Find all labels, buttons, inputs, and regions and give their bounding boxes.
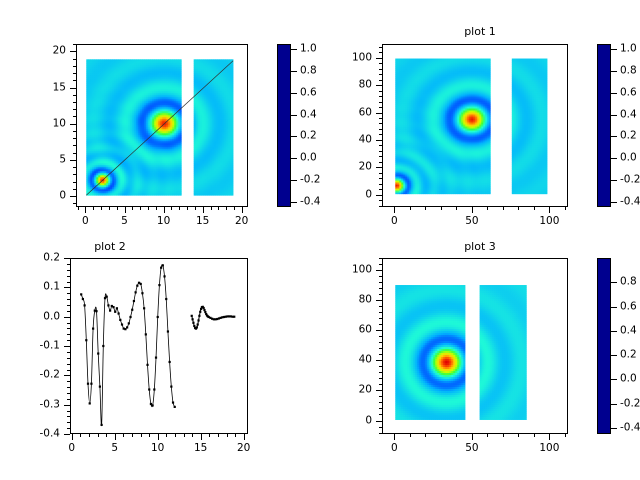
data-marker	[82, 298, 84, 300]
data-marker	[126, 326, 128, 328]
colorbar-bottom-right[interactable]	[597, 258, 611, 434]
major-tick-x	[85, 207, 86, 213]
major-tick-y	[64, 405, 70, 406]
subplot-top-right-title: plot 1	[320, 26, 640, 38]
major-tick-x	[72, 434, 73, 440]
major-tick-y	[376, 195, 382, 196]
minor-tick-x	[89, 434, 90, 437]
colorbar-tick-label: 0.4	[300, 109, 317, 120]
major-tick-y	[64, 346, 70, 347]
colorbar-tick	[291, 115, 297, 116]
lineplot-bottom-left	[71, 259, 247, 433]
colorbar-tick	[611, 71, 617, 72]
major-tick-y	[70, 196, 76, 197]
axes-bottom-left[interactable]	[70, 258, 248, 434]
data-marker	[197, 323, 199, 325]
minor-tick-x	[234, 207, 235, 210]
subplot-top-right: plot 1 050100020406080100 -0.4-0.20.00.2…	[320, 0, 640, 240]
data-marker	[87, 383, 89, 385]
minor-tick-y	[67, 293, 70, 294]
minor-tick-y	[379, 276, 382, 277]
minor-tick-x	[187, 207, 188, 210]
y-tick-label: 0	[336, 415, 372, 426]
minor-tick-x	[141, 434, 142, 437]
colorbar-tick	[291, 49, 297, 50]
minor-tick-y	[379, 96, 382, 97]
major-tick-y	[70, 160, 76, 161]
minor-tick-y	[379, 414, 382, 415]
colorbar-tick	[291, 93, 297, 94]
colorbar-tick	[291, 158, 297, 159]
minor-tick-x	[98, 434, 99, 437]
minor-tick-x	[503, 434, 504, 437]
data-marker	[107, 304, 109, 306]
y-tick-label: 10	[30, 118, 66, 129]
major-tick-x	[549, 434, 550, 440]
minor-tick-y	[379, 324, 382, 325]
y-tick-label: 0.2	[24, 253, 60, 264]
axes-top-left[interactable]	[76, 44, 248, 207]
data-marker	[157, 316, 159, 318]
data-marker	[158, 284, 160, 286]
minor-tick-y	[379, 378, 382, 379]
data-marker	[203, 307, 205, 309]
colorbar-tick-label: 0.8	[300, 66, 317, 77]
y-tick-label: 5	[30, 154, 66, 165]
axes-top-right[interactable]	[382, 44, 568, 207]
data-marker	[193, 325, 195, 327]
minor-tick-y	[67, 270, 70, 271]
minor-tick-y	[379, 294, 382, 295]
minor-tick-y	[379, 366, 382, 367]
minor-tick-x	[171, 207, 172, 210]
minor-tick-y	[67, 334, 70, 335]
x-tick-label: 50	[465, 216, 478, 227]
minor-tick-x	[518, 434, 519, 437]
minor-tick-y	[67, 370, 70, 371]
colorbar-tick-label: -0.4	[300, 196, 321, 207]
colorbar-tick-label: -0.2	[620, 174, 640, 185]
colorbar-tick	[611, 428, 617, 429]
major-tick-y	[64, 287, 70, 288]
minor-tick-y	[379, 288, 382, 289]
figure-canvas: 0510152005101520 -0.4-0.20.00.20.40.60.8…	[0, 0, 640, 480]
minor-tick-y	[73, 203, 76, 204]
data-marker	[85, 339, 87, 341]
minor-tick-y	[379, 134, 382, 135]
colorbar-tick-label: 1.0	[300, 44, 317, 55]
data-marker	[121, 323, 123, 325]
colorbar-tick-label: 0.8	[620, 66, 637, 77]
minor-tick-x	[78, 207, 79, 210]
minor-tick-y	[379, 129, 382, 130]
minor-tick-x	[140, 207, 141, 210]
minor-tick-x	[441, 207, 442, 210]
minor-tick-x	[123, 434, 124, 437]
data-marker	[203, 309, 205, 311]
minor-tick-y	[379, 396, 382, 397]
minor-tick-y	[379, 264, 382, 265]
minor-tick-y	[379, 74, 382, 75]
minor-tick-y	[67, 340, 70, 341]
x-tick-label: 100	[539, 443, 559, 454]
heatmap-bottom-right	[383, 259, 567, 433]
minor-tick-x	[410, 207, 411, 210]
minor-tick-y	[73, 138, 76, 139]
data-marker	[233, 316, 235, 318]
axes-bottom-right[interactable]	[382, 258, 568, 434]
minor-tick-y	[379, 123, 382, 124]
colorbar-tick-label: 0.0	[300, 153, 317, 164]
minor-tick-y	[67, 411, 70, 412]
minor-tick-x	[132, 207, 133, 210]
major-tick-x	[472, 207, 473, 213]
colorbar-tick	[611, 158, 617, 159]
major-tick-x	[242, 207, 243, 213]
minor-tick-y	[67, 282, 70, 283]
minor-tick-y	[379, 189, 382, 190]
y-tick-label: 80	[336, 80, 372, 91]
data-marker	[163, 275, 165, 277]
minor-tick-y	[379, 372, 382, 373]
y-tick-label: 40	[336, 355, 372, 366]
data-marker	[119, 319, 121, 321]
minor-tick-x	[106, 434, 107, 437]
x-tick-label: 5	[111, 443, 118, 454]
colorbar-tick-label: -0.2	[620, 398, 640, 409]
colorbar-tick-label: 0.6	[620, 87, 637, 98]
major-tick-y	[376, 360, 382, 361]
minor-tick-y	[379, 336, 382, 337]
minor-tick-y	[379, 200, 382, 201]
data-marker	[133, 300, 135, 302]
colorbar-tick-label: 0.2	[300, 131, 317, 142]
heatmap-top-right	[383, 45, 567, 206]
data-marker	[141, 292, 143, 294]
major-tick-x	[244, 434, 245, 440]
data-marker	[109, 310, 111, 312]
colorbar-tick	[611, 404, 617, 405]
data-marker	[84, 304, 86, 306]
data-marker	[145, 333, 147, 335]
minor-tick-x	[487, 207, 488, 210]
minor-tick-x	[132, 434, 133, 437]
major-tick-x	[158, 434, 159, 440]
data-marker	[162, 264, 164, 266]
data-marker	[167, 330, 169, 332]
x-tick-label: 50	[465, 443, 478, 454]
heatmap-top-left	[77, 45, 247, 206]
minor-tick-y	[379, 52, 382, 53]
minor-tick-y	[67, 264, 70, 265]
data-marker	[143, 307, 145, 309]
data-marker	[204, 311, 206, 313]
minor-tick-y	[67, 399, 70, 400]
minor-tick-x	[487, 434, 488, 437]
data-marker	[99, 386, 101, 388]
colorbar-top-right[interactable]	[597, 44, 611, 207]
data-marker	[97, 352, 99, 354]
x-tick-label: 0	[68, 443, 75, 454]
y-tick-label: 0	[30, 191, 66, 202]
colorbar-tick-label: 0.6	[620, 301, 637, 312]
major-tick-y	[64, 317, 70, 318]
y-tick-label: 0.0	[24, 311, 60, 322]
minor-tick-x	[80, 434, 81, 437]
data-marker	[191, 315, 193, 317]
data-marker	[128, 322, 130, 324]
x-tick-label: 100	[539, 216, 559, 227]
data-marker	[101, 424, 103, 426]
major-tick-x	[203, 207, 204, 213]
data-marker	[198, 315, 200, 317]
data-marker	[146, 364, 148, 366]
minor-tick-x	[148, 207, 149, 210]
minor-tick-x	[117, 207, 118, 210]
heat-panel	[512, 59, 548, 195]
data-marker	[152, 404, 154, 406]
y-tick-label: -0.4	[24, 429, 60, 440]
x-tick-label: 5	[121, 216, 128, 227]
minor-tick-y	[379, 427, 382, 428]
major-tick-x	[394, 207, 395, 213]
y-tick-label: 60	[336, 107, 372, 118]
colorbar-top-left[interactable]	[277, 44, 291, 207]
minor-tick-x	[503, 207, 504, 210]
minor-tick-x	[179, 207, 180, 210]
data-marker	[169, 361, 171, 363]
minor-tick-y	[379, 402, 382, 403]
minor-tick-y	[73, 102, 76, 103]
major-tick-x	[549, 207, 550, 213]
minor-tick-y	[379, 102, 382, 103]
colorbar-tick-label: 0.2	[620, 131, 637, 142]
minor-tick-y	[379, 151, 382, 152]
minor-tick-y	[379, 384, 382, 385]
colorbar-tick	[611, 282, 617, 283]
minor-tick-y	[73, 167, 76, 168]
minor-tick-x	[518, 207, 519, 210]
minor-tick-y	[379, 348, 382, 349]
minor-tick-x	[227, 434, 228, 437]
y-tick-label: 0.1	[24, 282, 60, 293]
data-line	[81, 265, 175, 426]
data-marker	[153, 388, 155, 390]
minor-tick-y	[379, 162, 382, 163]
minor-tick-y	[67, 276, 70, 277]
minor-tick-y	[379, 91, 382, 92]
data-marker	[196, 326, 198, 328]
minor-tick-x	[235, 434, 236, 437]
minor-tick-x	[565, 434, 566, 437]
x-tick-label: 15	[194, 443, 207, 454]
data-marker	[174, 406, 176, 408]
major-tick-y	[376, 421, 382, 422]
colorbar-tick-label: -0.4	[620, 196, 640, 207]
data-marker	[116, 307, 118, 309]
minor-tick-y	[73, 80, 76, 81]
minor-tick-y	[379, 318, 382, 319]
minor-tick-y	[379, 80, 382, 81]
major-tick-y	[64, 258, 70, 259]
y-tick-label: 100	[336, 265, 372, 276]
data-marker	[102, 345, 104, 347]
data-marker	[165, 298, 167, 300]
y-tick-label: 60	[336, 325, 372, 336]
minor-tick-y	[379, 107, 382, 108]
y-tick-label: 20	[30, 46, 66, 57]
heat-panel	[86, 59, 181, 195]
colorbar-tick	[611, 379, 617, 380]
minor-tick-y	[379, 433, 382, 434]
major-tick-y	[376, 58, 382, 59]
major-tick-y	[376, 113, 382, 114]
minor-tick-x	[410, 434, 411, 437]
minor-tick-x	[175, 434, 176, 437]
colorbar-tick-label: -0.2	[300, 174, 321, 185]
minor-tick-x	[192, 434, 193, 437]
x-tick-label: 0	[391, 443, 398, 454]
subplot-bottom-right: plot 3 050100020406080100 -0.4-0.20.00.2…	[320, 240, 640, 480]
major-tick-x	[164, 207, 165, 213]
y-tick-label: 15	[30, 82, 66, 93]
x-tick-label: 20	[237, 443, 250, 454]
major-tick-y	[376, 390, 382, 391]
minor-tick-y	[73, 131, 76, 132]
data-marker	[191, 318, 193, 320]
data-marker	[95, 310, 97, 312]
x-tick-label: 10	[157, 216, 170, 227]
minor-tick-x	[101, 207, 102, 210]
colorbar-tick	[611, 355, 617, 356]
data-marker	[90, 383, 92, 385]
subplot-bottom-left-title: plot 2	[0, 241, 270, 253]
minor-tick-x	[565, 207, 566, 210]
minor-tick-x	[184, 434, 185, 437]
major-tick-x	[125, 207, 126, 213]
minor-tick-y	[73, 189, 76, 190]
major-tick-x	[394, 434, 395, 440]
minor-tick-y	[73, 153, 76, 154]
x-tick-label: 15	[196, 216, 209, 227]
heat-panel	[480, 285, 527, 420]
minor-tick-y	[67, 352, 70, 353]
colorbar-tick	[611, 180, 617, 181]
y-tick-label: 40	[336, 134, 372, 145]
colorbar-tick-label: 0.4	[620, 325, 637, 336]
heat-panel	[395, 285, 465, 420]
minor-tick-y	[67, 422, 70, 423]
minor-tick-y	[67, 311, 70, 312]
data-marker	[80, 293, 82, 295]
colorbar-tick-label: 0.4	[620, 109, 637, 120]
data-marker	[92, 328, 94, 330]
colorbar-tick-label: 0.0	[620, 374, 637, 385]
minor-tick-y	[379, 282, 382, 283]
minor-tick-x	[166, 434, 167, 437]
minor-tick-y	[379, 145, 382, 146]
colorbar-tick	[291, 136, 297, 137]
heat-panel	[395, 59, 490, 195]
x-tick-label: 20	[235, 216, 248, 227]
minor-tick-y	[67, 364, 70, 365]
major-tick-x	[115, 434, 116, 440]
colorbar-tick	[611, 115, 617, 116]
minor-tick-y	[73, 174, 76, 175]
colorbar-tick	[291, 180, 297, 181]
y-tick-label: -0.1	[24, 341, 60, 352]
colorbar-tick	[611, 307, 617, 308]
y-tick-label: 20	[336, 162, 372, 173]
data-marker	[140, 283, 142, 285]
minor-tick-y	[379, 178, 382, 179]
minor-tick-x	[441, 434, 442, 437]
data-marker	[155, 357, 157, 359]
data-marker	[197, 319, 199, 321]
colorbar-tick-label: 0.2	[620, 350, 637, 361]
major-tick-y	[376, 270, 382, 271]
minor-tick-y	[379, 342, 382, 343]
x-tick-label: 10	[151, 443, 164, 454]
subplot-bottom-right-title: plot 3	[320, 241, 640, 253]
minor-tick-y	[379, 408, 382, 409]
y-tick-label: 20	[336, 385, 372, 396]
minor-tick-y	[379, 184, 382, 185]
data-marker	[129, 316, 131, 318]
minor-tick-y	[67, 416, 70, 417]
minor-tick-y	[73, 95, 76, 96]
minor-tick-y	[73, 116, 76, 117]
x-tick-label: 0	[82, 216, 89, 227]
data-marker	[118, 312, 120, 314]
colorbar-gradient	[278, 45, 290, 206]
colorbar-tick-label: 0.6	[300, 87, 317, 98]
minor-tick-y	[73, 59, 76, 60]
minor-tick-y	[379, 156, 382, 157]
x-tick-label: 0	[391, 216, 398, 227]
major-tick-y	[376, 167, 382, 168]
data-marker	[106, 296, 108, 298]
minor-tick-x	[109, 207, 110, 210]
y-tick-label: -0.2	[24, 370, 60, 381]
data-marker	[112, 306, 114, 308]
colorbar-gradient	[598, 259, 610, 433]
y-tick-label: 100	[336, 52, 372, 63]
colorbar-tick	[291, 71, 297, 72]
minor-tick-x	[425, 434, 426, 437]
minor-tick-x	[211, 207, 212, 210]
minor-tick-x	[534, 207, 535, 210]
minor-tick-y	[379, 118, 382, 119]
data-marker	[199, 311, 201, 313]
major-tick-x	[472, 434, 473, 440]
major-tick-y	[376, 330, 382, 331]
minor-tick-x	[456, 434, 457, 437]
minor-tick-x	[195, 207, 196, 210]
colorbar-gradient	[598, 45, 610, 206]
colorbar-tick	[291, 202, 297, 203]
minor-tick-x	[534, 434, 535, 437]
data-marker	[192, 322, 194, 324]
minor-tick-x	[218, 207, 219, 210]
colorbar-tick-label: 1.0	[620, 44, 637, 55]
major-tick-y	[376, 140, 382, 141]
minor-tick-x	[93, 207, 94, 210]
major-tick-y	[64, 375, 70, 376]
major-tick-x	[201, 434, 202, 440]
minor-tick-y	[379, 258, 382, 259]
major-tick-y	[70, 124, 76, 125]
